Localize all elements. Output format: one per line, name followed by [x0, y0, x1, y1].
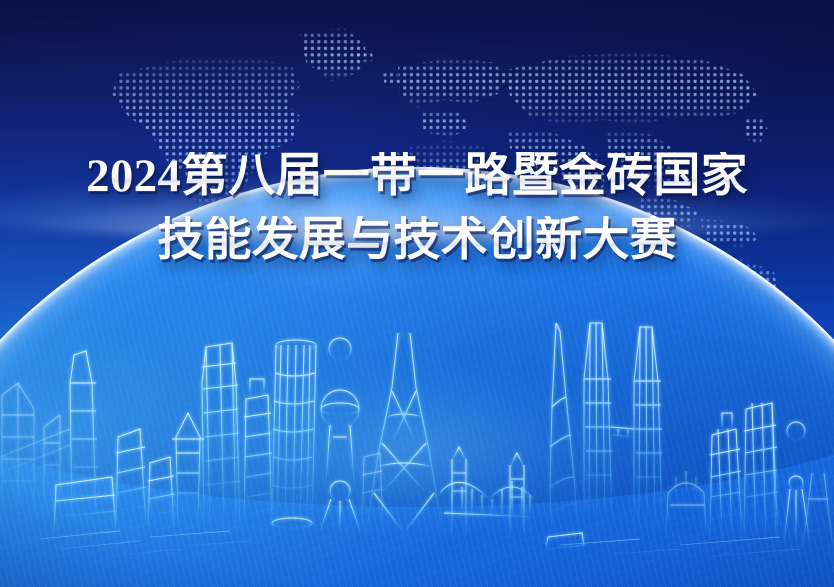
title-line-1: 2024第八届一带一路暨金砖国家	[0, 152, 834, 202]
poster-title: 2024第八届一带一路暨金砖国家 技能发展与技术创新大赛	[0, 152, 834, 266]
poster-canvas: 2024第八届一带一路暨金砖国家 技能发展与技术创新大赛	[0, 0, 834, 587]
title-line-2: 技能发展与技术创新大赛	[0, 216, 834, 266]
vignette	[0, 0, 834, 587]
